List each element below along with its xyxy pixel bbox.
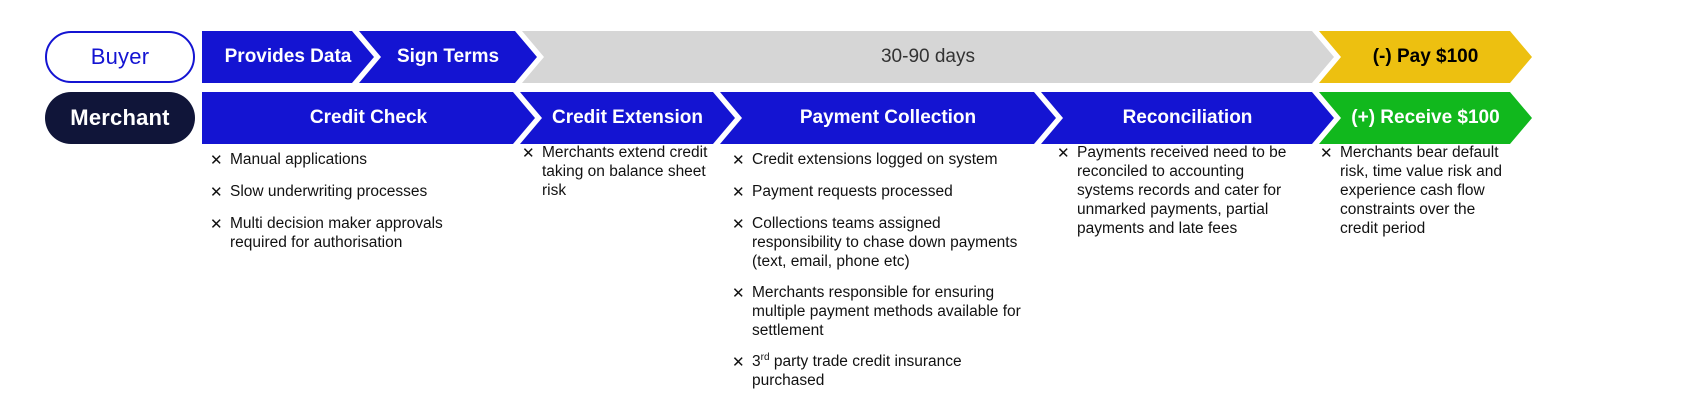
list-item: ✕ Credit extensions logged on system: [732, 150, 1032, 170]
merchant-step-credit-check: Credit Check: [202, 92, 535, 144]
buyer-step-3-label: (-) Pay $100: [1373, 46, 1479, 68]
row-label-buyer: Buyer: [45, 31, 195, 83]
merchant-step-1-label: Credit Extension: [552, 107, 703, 129]
cross-icon: ✕: [522, 143, 542, 163]
column-credit-check: ✕ Manual applications ✕ Slow underwritin…: [210, 150, 500, 264]
list-item: ✕ Payments received need to be reconcile…: [1057, 143, 1302, 238]
list-item-text: Payments received need to be reconciled …: [1077, 143, 1302, 238]
merchant-step-band: Credit Check Credit Extension Payment Co…: [202, 92, 1532, 144]
column-credit-extension: ✕ Merchants extend credit taking on bala…: [522, 143, 712, 212]
buyer-step-pay: (-) Pay $100: [1319, 31, 1532, 83]
column-reconciliation: ✕ Payments received need to be reconcile…: [1057, 143, 1302, 250]
merchant-step-4-label: (+) Receive $100: [1351, 107, 1499, 129]
list-item: ✕ Merchants bear default risk, time valu…: [1320, 143, 1510, 238]
cross-icon: ✕: [210, 214, 230, 234]
merchant-step-credit-extension: Credit Extension: [520, 92, 735, 144]
column-receive-payment: ✕ Merchants bear default risk, time valu…: [1320, 143, 1510, 250]
cross-icon: ✕: [732, 283, 752, 303]
merchant-step-3-label: Reconciliation: [1123, 107, 1253, 129]
list-item-text: Merchants responsible for ensuring multi…: [752, 283, 1032, 340]
list-item: ✕ Slow underwriting processes: [210, 182, 500, 202]
list-item: ✕ Manual applications: [210, 150, 500, 170]
merchant-step-payment-collection: Payment Collection: [720, 92, 1056, 144]
ordinal-number: 3: [752, 353, 761, 370]
cross-icon: ✕: [732, 150, 752, 170]
list-item-text-ordinal: 3rd party trade credit insurance purchas…: [752, 352, 1032, 390]
list-item-text: Merchants extend credit taking on balanc…: [542, 143, 712, 200]
list-item-text: Manual applications: [230, 150, 367, 169]
buyer-step-provides-data: Provides Data: [202, 31, 374, 83]
row-label-buyer-text: Buyer: [91, 44, 149, 70]
list-item-text: Collections teams assigned responsibilit…: [752, 214, 1032, 271]
list-item-text: Credit extensions logged on system: [752, 150, 998, 169]
detail-columns: ✕ Manual applications ✕ Slow underwritin…: [202, 150, 1681, 400]
list-item-text: Slow underwriting processes: [230, 182, 427, 201]
list-item: ✕ Multi decision maker approvals require…: [210, 214, 500, 252]
list-item: ✕ Payment requests processed: [732, 182, 1032, 202]
cross-icon: ✕: [732, 182, 752, 202]
cross-icon: ✕: [1320, 143, 1340, 163]
merchant-step-0-label: Credit Check: [310, 107, 427, 129]
row-label-merchant-text: Merchant: [70, 105, 169, 131]
buyer-step-waiting-period: 30-90 days: [522, 31, 1334, 83]
cross-icon: ✕: [732, 352, 752, 372]
row-label-merchant: Merchant: [45, 92, 195, 144]
list-item-text: Multi decision maker approvals required …: [230, 214, 500, 252]
merchant-step-receive-payment: (+) Receive $100: [1319, 92, 1532, 144]
list-item: ✕ Merchants responsible for ensuring mul…: [732, 283, 1032, 340]
ordinal-suffix: rd: [761, 352, 770, 363]
column-payment-collection: ✕ Credit extensions logged on system ✕ P…: [732, 150, 1032, 402]
list-item-text: Merchants bear default risk, time value …: [1340, 143, 1510, 238]
cross-icon: ✕: [1057, 143, 1077, 163]
ordinal-rest: party trade credit insurance purchased: [752, 353, 962, 389]
cross-icon: ✕: [732, 214, 752, 234]
list-item-text: Payment requests processed: [752, 182, 953, 201]
buyer-step-0-label: Provides Data: [225, 46, 352, 68]
buyer-step-band: Provides Data Sign Terms 30-90 days (-) …: [202, 31, 1532, 83]
cross-icon: ✕: [210, 182, 230, 202]
list-item: ✕ 3rd party trade credit insurance purch…: [732, 352, 1032, 390]
process-flow-diagram: Buyer Merchant Provides Data Sign Terms …: [0, 0, 1681, 403]
buyer-step-sign-terms: Sign Terms: [359, 31, 537, 83]
merchant-step-2-label: Payment Collection: [800, 107, 976, 129]
buyer-step-2-label: 30-90 days: [881, 46, 975, 68]
merchant-step-reconciliation: Reconciliation: [1041, 92, 1334, 144]
cross-icon: ✕: [210, 150, 230, 170]
list-item: ✕ Collections teams assigned responsibil…: [732, 214, 1032, 271]
list-item: ✕ Merchants extend credit taking on bala…: [522, 143, 712, 200]
buyer-step-1-label: Sign Terms: [397, 46, 499, 68]
